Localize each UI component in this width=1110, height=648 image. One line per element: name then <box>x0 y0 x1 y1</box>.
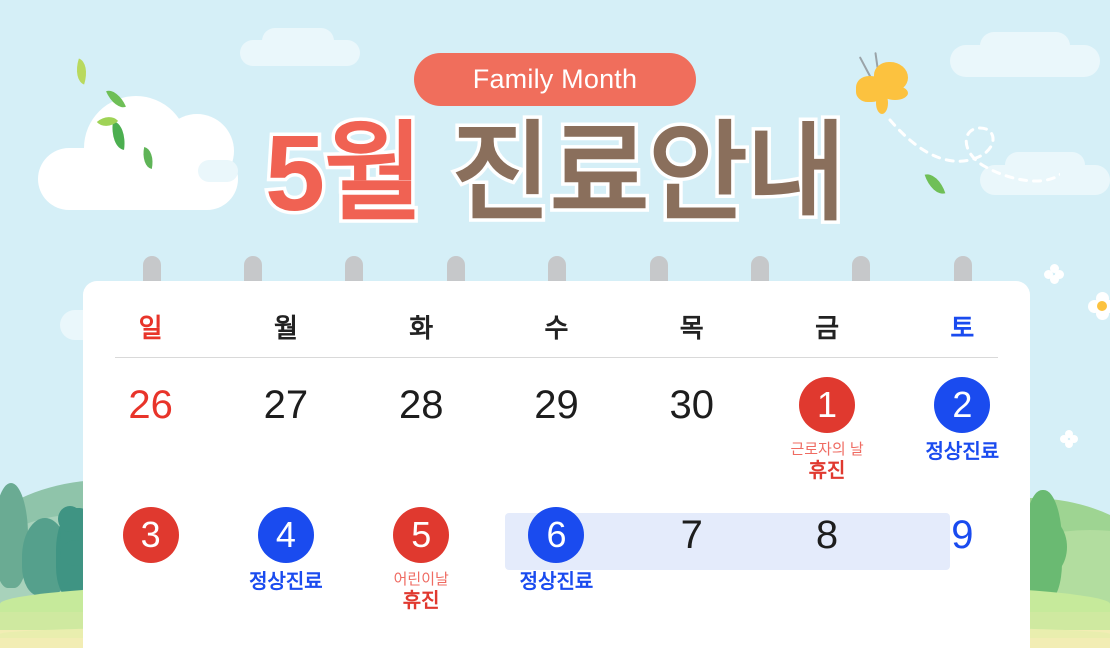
calendar-day-cell[interactable]: 9 <box>895 507 1030 615</box>
title-rest: 진료안내 <box>452 112 845 233</box>
day-number: 2 <box>934 377 990 433</box>
day-number: 5 <box>393 507 449 563</box>
holiday-name: 근로자의 날 <box>790 440 863 459</box>
calendar-day-cell[interactable]: 1근로자의 날휴진 <box>759 377 894 485</box>
weekday-header-fri: 금 <box>759 308 894 352</box>
day-status-label: 어린이날휴진 <box>394 570 449 615</box>
family-month-badge: Family Month <box>414 53 696 106</box>
cloud-icon <box>980 32 1070 60</box>
header-divider <box>115 357 998 358</box>
calendar-day-cell[interactable]: 28 <box>354 377 489 485</box>
weekday-header-wed: 수 <box>489 308 624 352</box>
day-number: 6 <box>528 507 584 563</box>
status-badge: 휴진 <box>790 459 863 485</box>
poster-canvas: Family Month 5월 진료안내 일 월 화 수 목 금 토 26272… <box>0 0 1110 648</box>
day-number: 3 <box>123 507 179 563</box>
day-status-label: 정상진료 <box>249 570 323 596</box>
flower-icon <box>1088 292 1110 320</box>
calendar-card: 일 월 화 수 목 금 토 26272829301근로자의 날휴진2정상진료 3… <box>83 281 1030 648</box>
cloud-icon <box>262 28 334 54</box>
title-month: 5월 <box>265 112 422 233</box>
weekday-header-sun: 일 <box>83 308 218 352</box>
calendar-day-cell[interactable]: 5어린이날휴진 <box>354 507 489 615</box>
holiday-name: 어린이날 <box>394 570 449 589</box>
calendar-day-cell[interactable]: 8 <box>759 507 894 615</box>
status-badge: 정상진료 <box>926 440 1000 466</box>
weekday-header-sat: 토 <box>895 308 1030 352</box>
day-status-label: 근로자의 날휴진 <box>790 440 863 485</box>
day-number: 9 <box>951 507 973 563</box>
weekday-header-mon: 월 <box>218 308 353 352</box>
calendar-day-cell[interactable]: 29 <box>489 377 624 485</box>
calendar-day-cell[interactable]: 4정상진료 <box>218 507 353 615</box>
day-number: 30 <box>670 377 715 433</box>
status-badge: 휴진 <box>394 589 449 615</box>
calendar-day-cell[interactable]: 7 <box>624 507 759 615</box>
day-status-label: 정상진료 <box>520 570 594 596</box>
calendar-day-cell[interactable]: 30 <box>624 377 759 485</box>
page-title: 5월 진료안내 <box>0 116 1110 229</box>
calendar-day-cell[interactable]: 27 <box>218 377 353 485</box>
day-number: 28 <box>399 377 444 433</box>
day-number: 27 <box>264 377 309 433</box>
day-number: 29 <box>534 377 579 433</box>
calendar-week-row: 26272829301근로자의 날휴진2정상진료 <box>83 377 1030 485</box>
day-number: 4 <box>258 507 314 563</box>
weekday-header-row: 일 월 화 수 목 금 토 <box>83 308 1030 352</box>
calendar-day-cell[interactable]: 26 <box>83 377 218 485</box>
day-number: 1 <box>799 377 855 433</box>
calendar-day-cell[interactable]: 6정상진료 <box>489 507 624 615</box>
status-badge: 정상진료 <box>249 570 323 596</box>
weekday-header-tue: 화 <box>354 308 489 352</box>
calendar-day-cell[interactable]: 2정상진료 <box>895 377 1030 485</box>
day-number: 8 <box>816 507 838 563</box>
flower-icon <box>1060 430 1078 448</box>
day-number: 26 <box>128 377 173 433</box>
calendar-week-row: 34정상진료5어린이날휴진6정상진료789 <box>83 507 1030 615</box>
day-status-label: 정상진료 <box>926 440 1000 466</box>
badge-label: Family Month <box>473 64 637 95</box>
calendar-day-cell[interactable]: 3 <box>83 507 218 615</box>
weekday-header-thu: 목 <box>624 308 759 352</box>
day-number: 7 <box>681 507 703 563</box>
status-badge: 정상진료 <box>520 570 594 596</box>
